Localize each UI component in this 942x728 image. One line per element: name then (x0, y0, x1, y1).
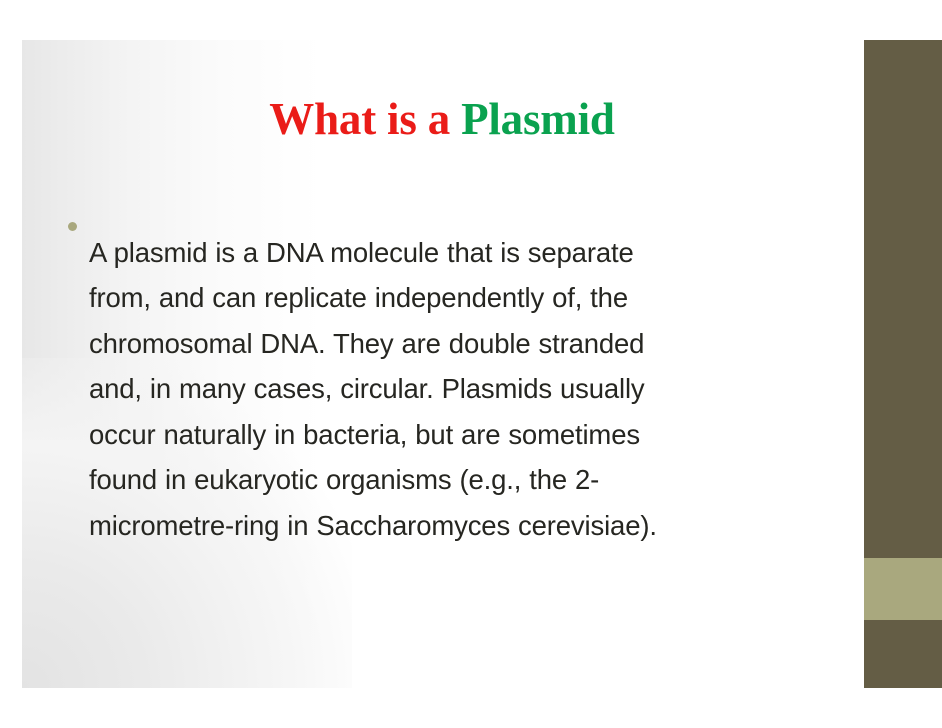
bullet-line: occur naturally in bacteria, but are som… (89, 412, 858, 458)
decorative-side-bar (864, 40, 942, 688)
bullet-line: A plasmid is a DNA molecule that is sepa… (89, 230, 858, 276)
slide-canvas: What is a Plasmid A plasmid is a DNA mol… (22, 40, 942, 688)
bullet-line: found in eukaryotic organisms (e.g., the… (89, 457, 858, 503)
bullet-dot-icon (68, 222, 77, 231)
side-bar-segment-dark-bottom (864, 620, 942, 688)
bullet-line: micrometre-ring in Saccharomyces cerevis… (89, 503, 858, 549)
page-title: What is a Plasmid (62, 95, 822, 145)
bullet-line: from, and can replicate independently of… (89, 275, 858, 321)
bullet-line: and, in many cases, circular. Plasmids u… (89, 366, 858, 412)
body-content: A plasmid is a DNA molecule that is sepa… (68, 202, 858, 576)
title-segment-green: Plasmid (461, 94, 615, 144)
side-bar-segment-light (864, 558, 942, 620)
side-bar-segment-dark-top (864, 40, 942, 558)
title-segment-red: What is a (269, 94, 461, 144)
bullet-line: chromosomal DNA. They are double strande… (89, 321, 858, 367)
title-block: What is a Plasmid (62, 95, 822, 145)
list-item: A plasmid is a DNA molecule that is sepa… (68, 202, 858, 576)
slide-viewport: What is a Plasmid A plasmid is a DNA mol… (0, 0, 942, 728)
bullet-paragraph: A plasmid is a DNA molecule that is sepa… (89, 230, 858, 549)
